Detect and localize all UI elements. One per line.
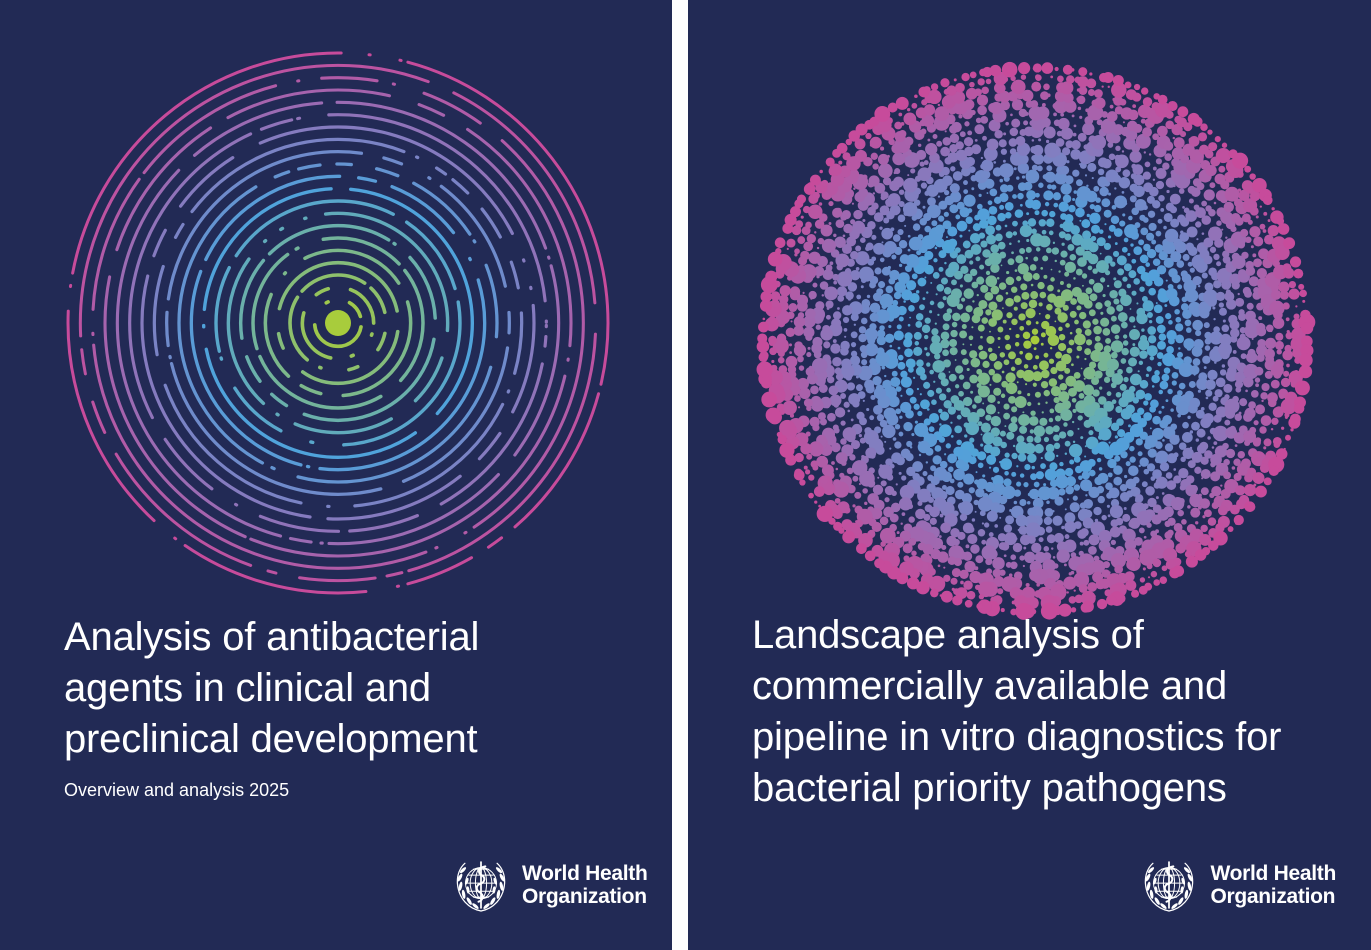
who-emblem bbox=[1138, 854, 1200, 916]
page-subtitle: Overview and analysis 2025 bbox=[64, 779, 624, 801]
who-wordmark-line1: World Health bbox=[522, 862, 648, 885]
title-line: preclinical development bbox=[64, 717, 477, 761]
concentric-rings-graphic bbox=[0, 0, 672, 950]
title-line: Analysis of antibacterial bbox=[64, 615, 479, 659]
who-logo: World Health Organization bbox=[450, 854, 648, 916]
cover-gutter bbox=[672, 0, 688, 950]
cover-in-vitro-diagnostics: Landscape analysis of commercially avail… bbox=[688, 0, 1371, 950]
page-title: Landscape analysis of commercially avail… bbox=[752, 610, 1362, 814]
who-wordmark: World Health Organization bbox=[1210, 862, 1336, 908]
who-wordmark-line2: Organization bbox=[1210, 885, 1336, 908]
who-wordmark: World Health Organization bbox=[522, 862, 648, 908]
cover-text-block: Landscape analysis of commercially avail… bbox=[752, 610, 1362, 814]
title-line: commercially available and bbox=[752, 664, 1227, 708]
title-line: agents in clinical and bbox=[64, 666, 431, 710]
page-title: Analysis of antibacterial agents in clin… bbox=[64, 612, 624, 765]
title-line: bacterial priority pathogens bbox=[752, 766, 1227, 810]
who-wordmark-line2: Organization bbox=[522, 885, 648, 908]
who-logo: World Health Organization bbox=[1138, 854, 1336, 916]
title-line: Landscape analysis of bbox=[752, 613, 1144, 657]
who-emblem bbox=[450, 854, 512, 916]
title-line: pipeline in vitro diagnostics for bbox=[752, 715, 1281, 759]
cover-text-block: Analysis of antibacterial agents in clin… bbox=[64, 612, 624, 801]
report-cover-spread: Analysis of antibacterial agents in clin… bbox=[0, 0, 1371, 950]
cover-antibacterial-agents: Analysis of antibacterial agents in clin… bbox=[0, 0, 672, 950]
who-wordmark-line1: World Health bbox=[1210, 862, 1336, 885]
